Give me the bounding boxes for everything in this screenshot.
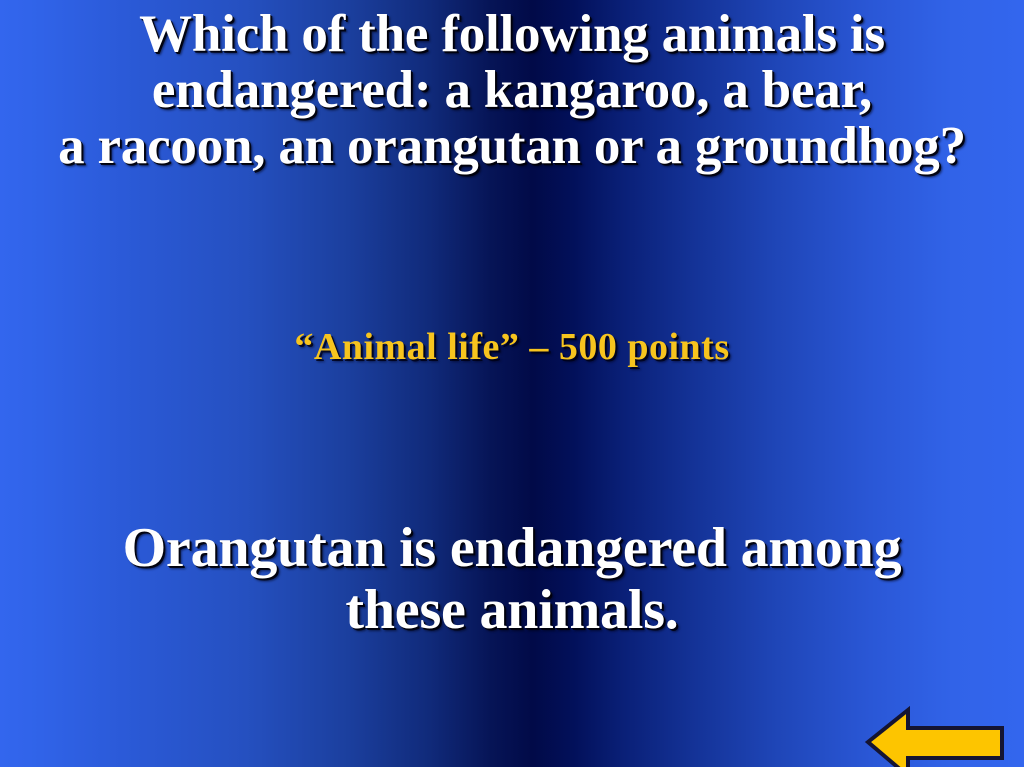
question-line-3: a racoon, an orangutan or a groundhog? <box>0 118 1024 174</box>
answer-line-2: these animals. <box>0 579 1024 641</box>
arrow-left-icon[interactable] <box>864 702 1008 767</box>
category-and-points: “Animal life” – 500 points <box>0 325 1024 369</box>
question-text: Which of the following animals is endang… <box>0 6 1024 174</box>
category-points-label: “Animal life” – 500 points <box>294 325 729 369</box>
answer-text: Orangutan is endangered among these anim… <box>0 517 1024 641</box>
jeopardy-answer-slide: Which of the following animals is endang… <box>0 0 1024 767</box>
answer-line-1: Orangutan is endangered among <box>0 517 1024 579</box>
question-line-1: Which of the following animals is <box>0 6 1024 62</box>
back-arrow-button[interactable] <box>864 702 1008 767</box>
question-line-2: endangered: a kangaroo, a bear, <box>0 62 1024 118</box>
